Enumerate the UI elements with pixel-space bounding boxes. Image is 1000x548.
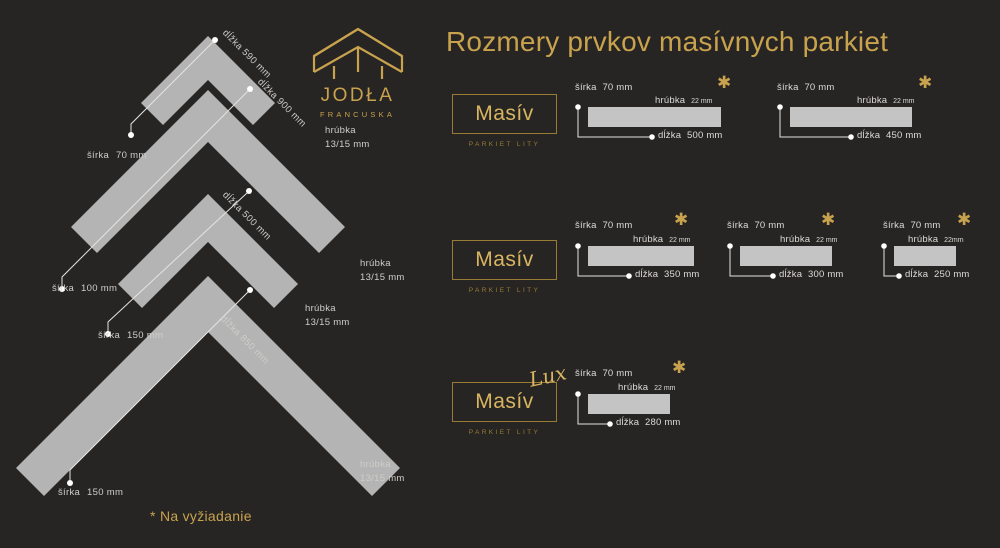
label-value: 13/15 mm — [360, 271, 405, 285]
chevron-width-label-2: šírka 100 mm — [52, 283, 117, 294]
label-value: 13/15 mm — [305, 316, 350, 330]
brand-name: Masív — [475, 102, 534, 126]
brand-box: Masív — [452, 94, 557, 134]
label-text: šírka — [52, 283, 74, 294]
label-value: 70 mm — [116, 150, 147, 161]
page-title: Rozmery prvkov masívnych parkiet — [446, 26, 888, 58]
lux-badge: Lux — [526, 360, 568, 391]
brand-name: Masív — [475, 390, 534, 414]
footnote-star-icon: ✱ — [717, 74, 731, 91]
label-value: 13/15 mm — [325, 138, 370, 152]
brand-logo: JODŁA FRANCUSKA — [305, 26, 410, 119]
brand-masiv-1: Masív PARKIET LITY — [452, 94, 557, 148]
logo-subtitle: FRANCUSKA — [305, 110, 410, 119]
dimension-leader — [570, 368, 720, 430]
chevron-width-label-4: šírka 150 mm — [58, 487, 123, 498]
footnote-star-icon: ✱ — [821, 211, 835, 228]
plank-spec-250: šírka 70 mm hrúbka 22mm dĺžka 250 mm ✱ — [878, 220, 1000, 282]
chevron-width-label-1: šírka 70 mm — [87, 150, 147, 161]
chevron-thickness-label-2: hrúbka 13/15 mm — [360, 257, 405, 285]
brand-masiv-2: Masív PARKIET LITY — [452, 240, 557, 294]
footnote-star-icon: ✱ — [918, 74, 932, 91]
footnote-text: * Na vyžiadanie — [150, 508, 252, 524]
brand-tag: PARKIET LITY — [452, 429, 557, 436]
logo-name: JODŁA — [305, 85, 410, 107]
dimension-leader — [878, 220, 1000, 282]
plank-spec-500: šírka 70 mm hrúbka 22 mm dĺžka 500 mm ✱ — [570, 82, 730, 144]
label-value: 100 mm — [81, 283, 117, 294]
brand-box: Masív — [452, 240, 557, 280]
chevron-roof-icon — [310, 26, 406, 81]
chevron-thickness-label-4: hrúbka 13/15 mm — [360, 458, 405, 486]
chevron-width-label-3: šírka 150 mm — [98, 330, 163, 341]
footnote-star-icon: ✱ — [957, 211, 971, 228]
label-text: šírka — [98, 330, 120, 341]
label-text: hrúbka — [325, 124, 370, 138]
plank-spec-350: šírka 70 mm hrúbka 22 mm dĺžka 350 mm ✱ — [570, 220, 720, 282]
label-text: hrúbka — [305, 302, 350, 316]
label-text: šírka — [58, 487, 80, 498]
label-text: hrúbka — [360, 257, 405, 271]
brand-masiv-lux: Masív Lux PARKIET LITY — [452, 382, 557, 436]
plank-spec-280: šírka 70 mm hrúbka 22 mm dĺžka 280 mm ✱ — [570, 368, 720, 430]
plank-spec-300: šírka 70 mm hrúbka 22 mm dĺžka 300 mm ✱ — [722, 220, 867, 282]
dimension-leader — [772, 82, 932, 144]
dimension-leader — [722, 220, 867, 282]
label-value: 13/15 mm — [360, 472, 405, 486]
chevron-thickness-label-1: hrúbka 13/15 mm — [325, 124, 370, 152]
infographic-canvas: dĺžka 590 mm dĺžka 900 mm dĺžka 500 mm d… — [0, 0, 1000, 548]
chevron-thickness-label-3: hrúbka 13/15 mm — [305, 302, 350, 330]
label-value: 150 mm — [87, 487, 123, 498]
plank-spec-450: šírka 70 mm hrúbka 22 mm dĺžka 450 mm ✱ — [772, 82, 932, 144]
brand-tag: PARKIET LITY — [452, 287, 557, 294]
brand-tag: PARKIET LITY — [452, 141, 557, 148]
dimension-leader — [570, 82, 730, 144]
label-text: hrúbka — [360, 458, 405, 472]
footnote-star-icon: ✱ — [672, 359, 686, 376]
brand-name: Masív — [475, 248, 534, 272]
brand-box: Masív Lux — [452, 382, 557, 422]
label-text: šírka — [87, 150, 109, 161]
dimension-leader — [570, 220, 720, 282]
label-value: 150 mm — [127, 330, 163, 341]
footnote-star-icon: ✱ — [674, 211, 688, 228]
